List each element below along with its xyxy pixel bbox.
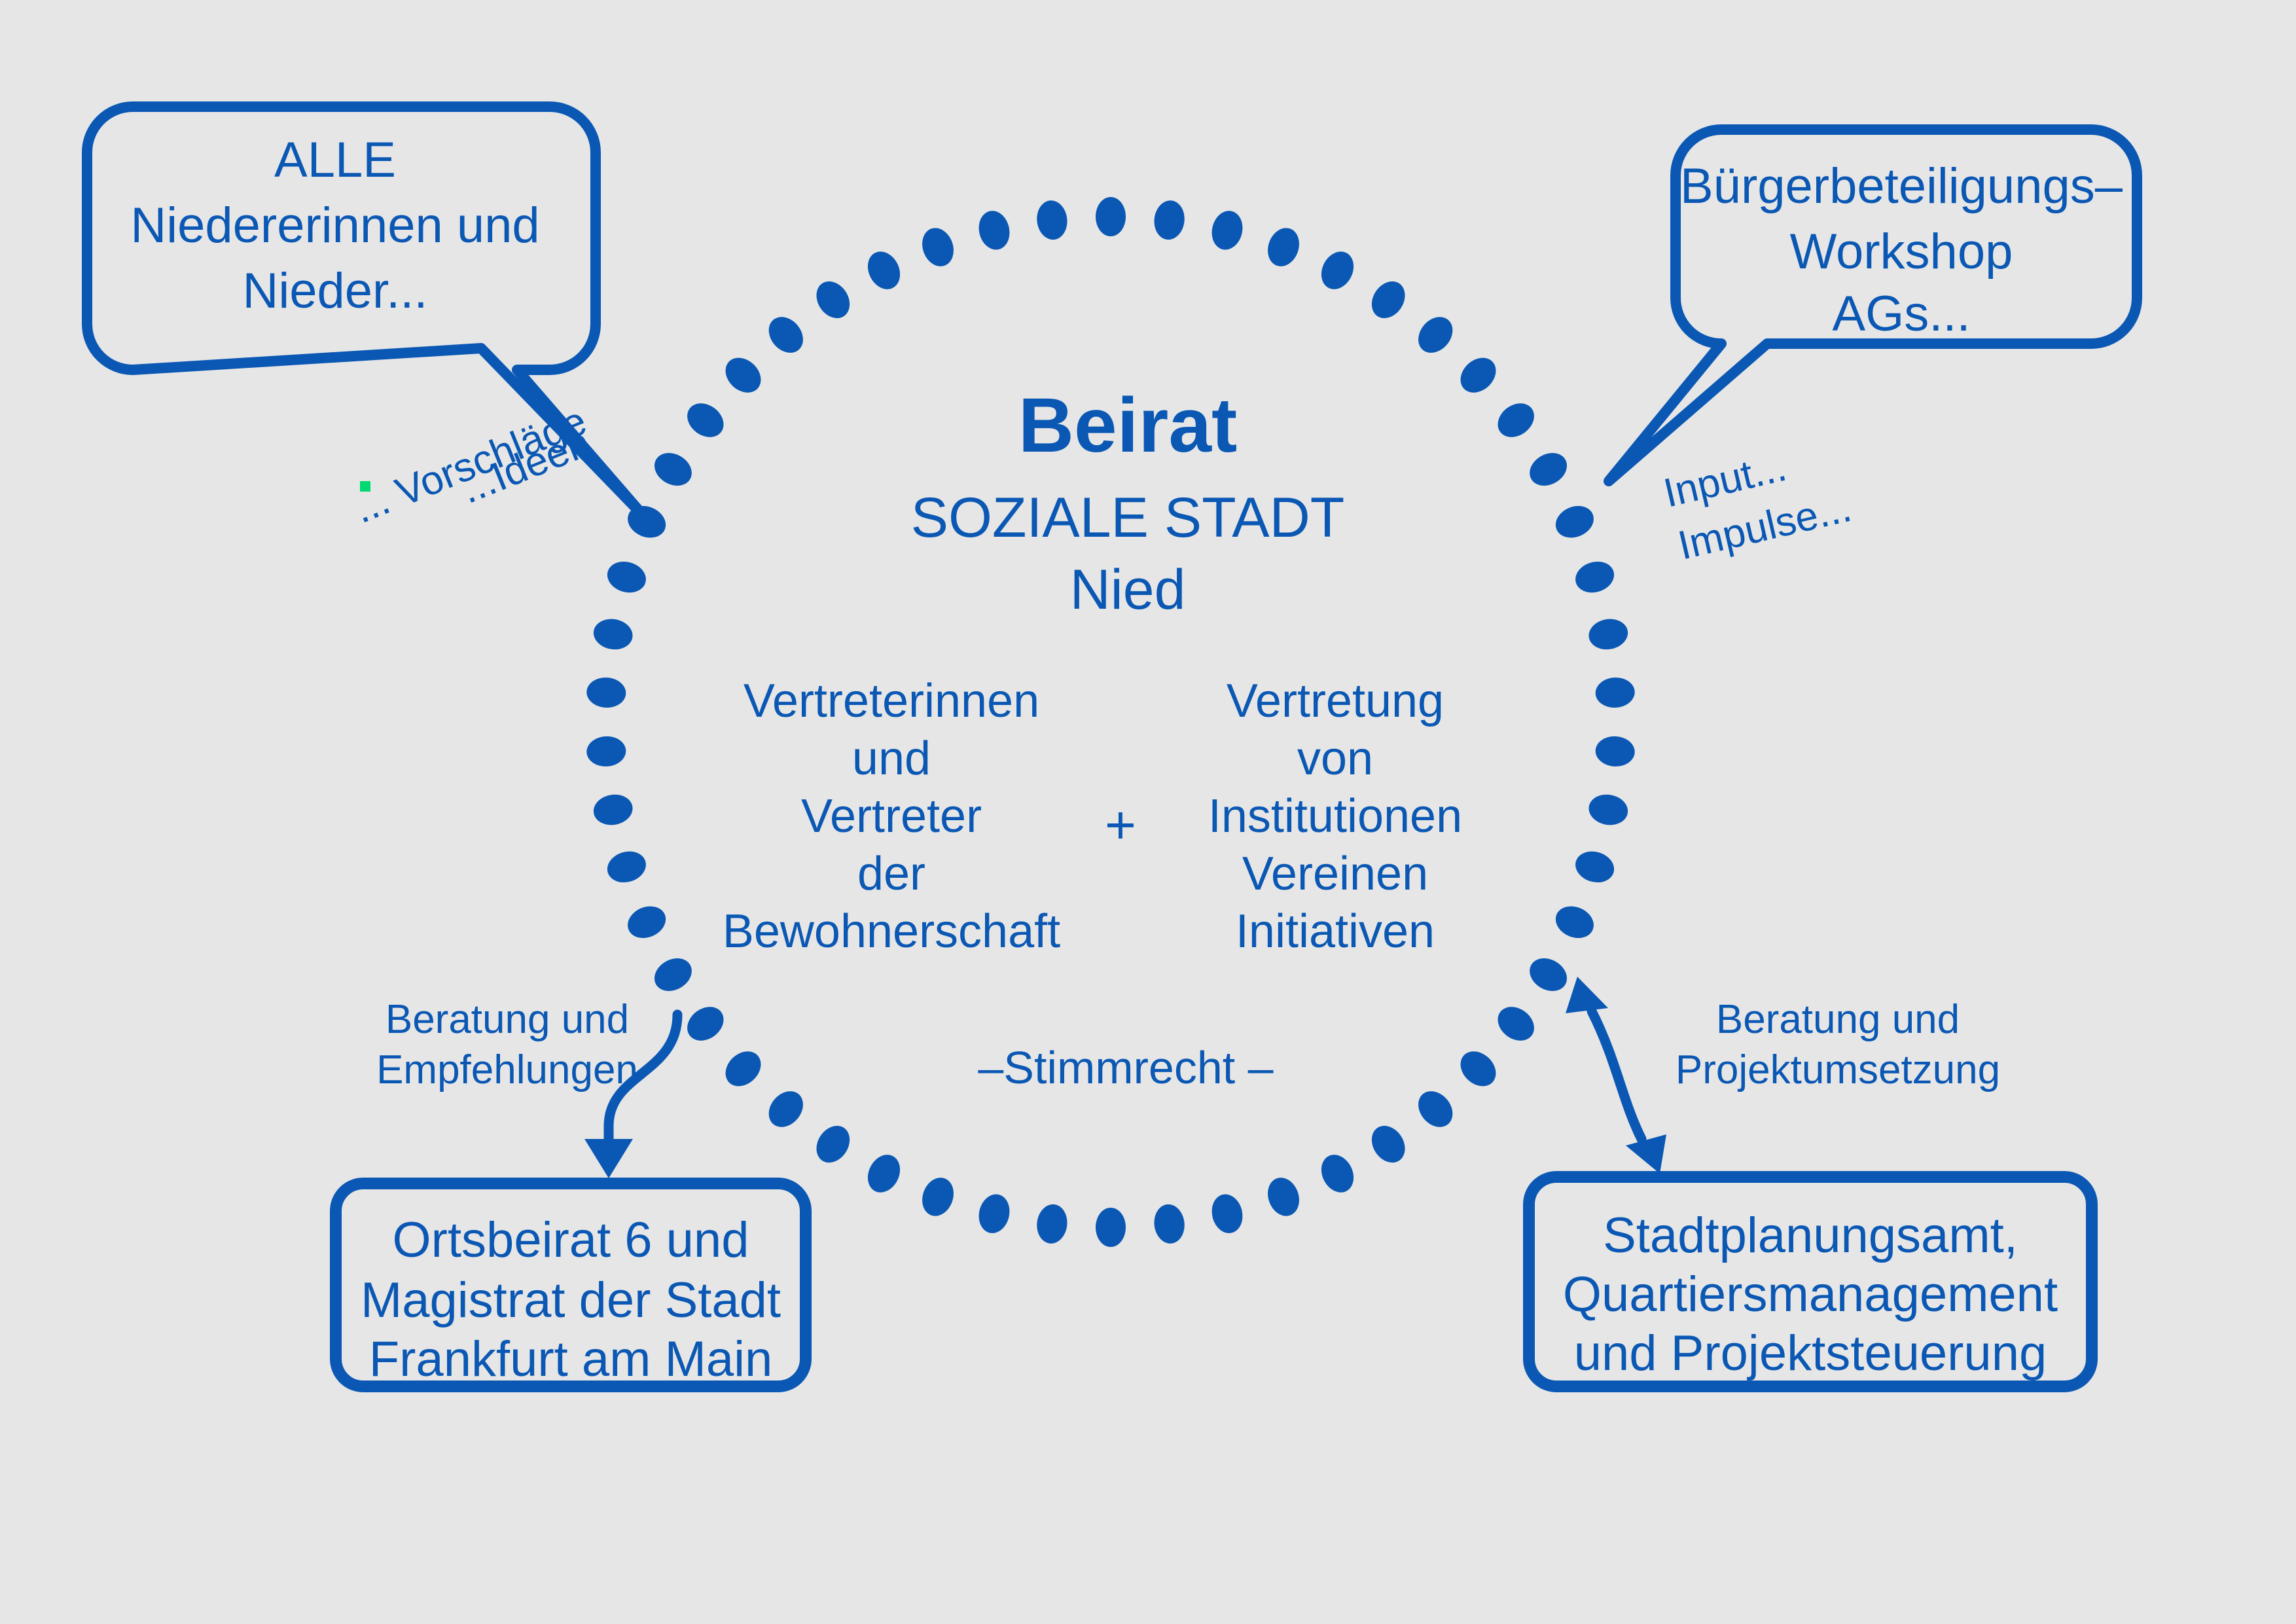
bubble-alle-line-3: Nieder... (242, 263, 427, 319)
box-ortsbeirat-line-3: Frankfurt am Main (369, 1331, 773, 1387)
center-left-col-4: der (857, 848, 925, 900)
center-left-col-5: Bewohnerschaft (723, 905, 1060, 958)
bubble-buerger-line-3: AGs... (1832, 286, 1970, 342)
arrow-label-right-line-1: Beratung und (1716, 997, 1960, 1042)
center-title: Beirat (1018, 382, 1237, 469)
box-stadtplanungsamt-line-1: Stadtplanungsamt, (1603, 1208, 2018, 1263)
arrow-label-left-line-1: Beratung und (386, 997, 629, 1042)
center-operator: + (1105, 795, 1136, 855)
box-stadtplanungsamt-line-2: Quartiersmanagement (1563, 1267, 2058, 1322)
bubble-buerger-line-1: Bürgerbeteiligungs– (1680, 158, 2123, 214)
center-left-col-2: und (852, 732, 931, 785)
center-right-col-4: Vereinen (1242, 848, 1428, 900)
center-subtitle-line-2: Nied (1070, 558, 1186, 621)
text-layer: ALLE Niedererinnen und Nieder... Bürgerb… (0, 0, 2296, 1624)
center-right-col-2: von (1297, 732, 1373, 785)
arrow-label-left-line-2: Empfehlungen (376, 1047, 638, 1092)
center-right-col-5: Initiativen (1236, 905, 1435, 958)
bubble-alle-line-1: ALLE (274, 132, 396, 188)
center-subtitle-line-1: SOZIALE STADT (911, 486, 1345, 549)
bubble-alle-line-2: Niedererinnen und (130, 198, 539, 253)
diagram-canvas: ALLE Niedererinnen und Nieder... Bürgerb… (0, 0, 2296, 1624)
center-right-col-1: Vertretung (1227, 675, 1444, 727)
center-left-col-1: Vertreterinnen (744, 675, 1039, 727)
bubble-buerger-line-2: Workshop (1790, 224, 2013, 280)
center-right-col-3: Institutionen (1208, 790, 1462, 842)
arrow-label-right-line-2: Projektumsetzung (1676, 1047, 2000, 1092)
center-footnote: –Stimmrecht – (978, 1042, 1273, 1093)
box-stadtplanungsamt-line-3: und Projektsteuerung (1574, 1326, 2047, 1381)
box-ortsbeirat-line-1: Ortsbeirat 6 und (393, 1212, 749, 1268)
center-left-col-3: Vertreter (801, 790, 982, 842)
box-ortsbeirat-line-2: Magistrat der Stadt (361, 1272, 781, 1328)
